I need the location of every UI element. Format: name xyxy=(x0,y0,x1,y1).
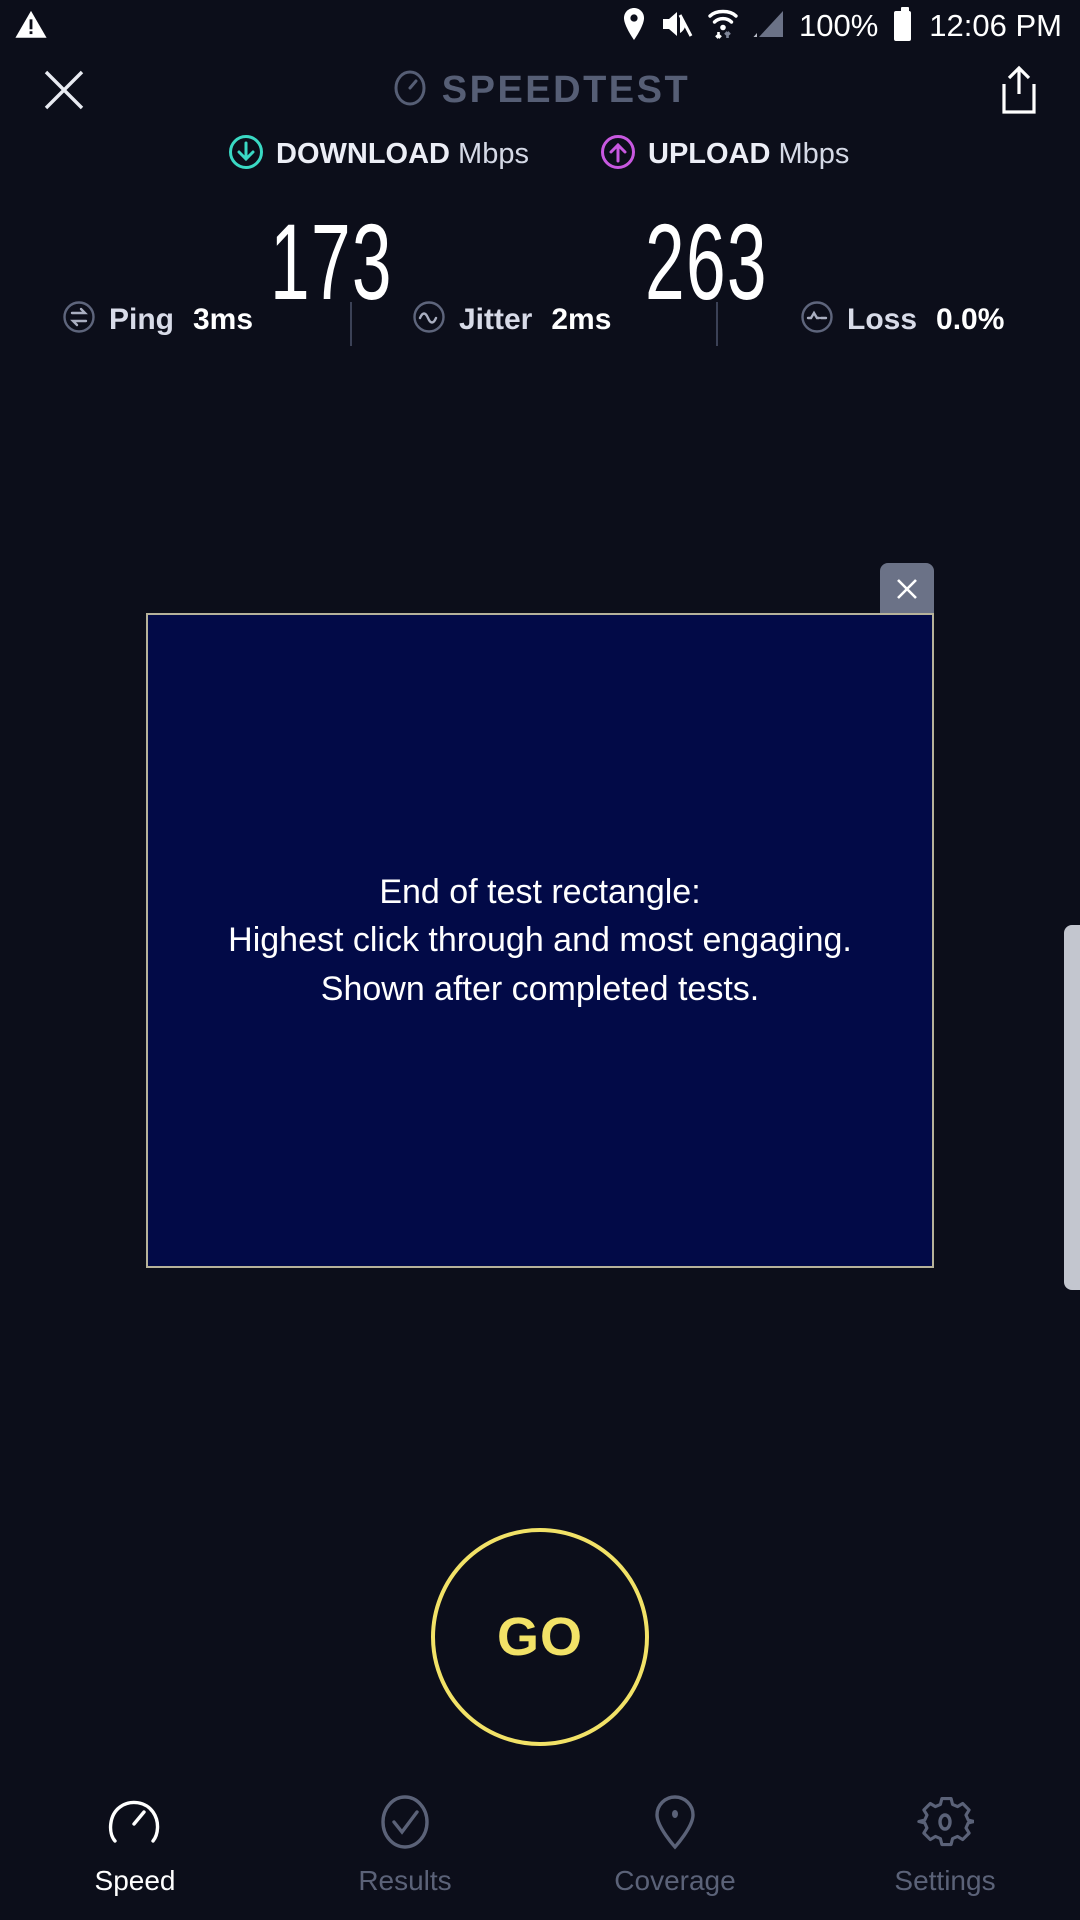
brand-logo: SPEEDTEST xyxy=(0,68,1080,113)
check-circle-icon xyxy=(376,1793,434,1851)
go-button[interactable]: GO xyxy=(431,1528,649,1746)
results-summary: DOWNLOAD Mbps UPLOAD Mbps 173 263 xyxy=(0,130,1080,302)
warning-triangle-icon xyxy=(14,8,48,47)
loss-metric: Loss 0.0% xyxy=(800,300,1004,339)
nav-item-speed[interactable]: Speed xyxy=(0,1770,270,1920)
battery-percent-label: 100% xyxy=(799,8,878,44)
ad-rectangle[interactable]: End of test rectangle: Highest click thr… xyxy=(146,613,934,1268)
upload-header: UPLOAD Mbps xyxy=(600,134,849,175)
ping-jitter-loss-row: Ping 3ms Jitter 2ms Loss 0.0% xyxy=(0,300,1080,348)
ping-metric: Ping 3ms xyxy=(62,300,253,339)
nav-label-speed: Speed xyxy=(95,1865,176,1897)
speed-values-row: 173 263 xyxy=(0,190,1080,302)
share-upload-icon[interactable] xyxy=(996,64,1042,121)
app-header: SPEEDTEST xyxy=(0,52,1080,130)
divider xyxy=(716,302,718,346)
ping-value: 3ms xyxy=(193,303,253,337)
close-x-icon xyxy=(892,574,922,604)
clock-label: 12:06 PM xyxy=(929,8,1062,44)
loss-value: 0.0% xyxy=(936,303,1004,337)
status-bar: 100% 12:06 PM xyxy=(0,0,1080,52)
download-label: DOWNLOAD Mbps xyxy=(276,138,529,171)
nav-item-coverage[interactable]: Coverage xyxy=(540,1770,810,1920)
location-pin-icon xyxy=(646,1793,704,1851)
volume-mute-icon xyxy=(661,9,693,44)
speedometer-icon xyxy=(390,68,430,113)
battery-full-icon xyxy=(894,11,911,41)
advertisement-container[interactable]: End of test rectangle: Highest click thr… xyxy=(146,613,934,1268)
bottom-navigation: Speed Results Coverage xyxy=(0,1770,1080,1920)
location-pin-icon xyxy=(621,8,647,45)
page-title: SPEEDTEST xyxy=(442,69,690,112)
nav-item-settings[interactable]: Settings xyxy=(810,1770,1080,1920)
app-screen: 100% 12:06 PM SPEEDTEST xyxy=(0,0,1080,1920)
gear-icon xyxy=(916,1793,974,1851)
ad-close-button[interactable] xyxy=(880,563,934,615)
download-arrow-circle-icon xyxy=(228,134,264,175)
nav-label-results: Results xyxy=(358,1865,451,1897)
cellular-signal-icon xyxy=(753,9,785,44)
speedometer-icon xyxy=(106,1793,164,1851)
ping-label: Ping xyxy=(109,303,174,337)
jitter-metric: Jitter 2ms xyxy=(412,300,611,339)
jitter-value: 2ms xyxy=(551,303,611,337)
nav-label-settings: Settings xyxy=(894,1865,995,1897)
divider xyxy=(350,302,352,346)
upload-arrow-circle-icon xyxy=(600,134,636,175)
nav-item-results[interactable]: Results xyxy=(270,1770,540,1920)
download-header: DOWNLOAD Mbps xyxy=(228,134,529,175)
go-button-label: GO xyxy=(497,1606,583,1668)
jitter-label: Jitter xyxy=(459,303,532,337)
speed-headers-row: DOWNLOAD Mbps UPLOAD Mbps xyxy=(0,130,1080,190)
ping-exchange-icon xyxy=(62,300,96,339)
ad-text: End of test rectangle: Highest click thr… xyxy=(220,868,860,1013)
status-bar-right-group: 100% 12:06 PM xyxy=(621,0,1062,52)
jitter-wave-icon xyxy=(412,300,446,339)
wifi-transfer-icon xyxy=(707,7,739,46)
loss-label: Loss xyxy=(847,303,917,337)
vertical-scrollbar[interactable] xyxy=(1064,925,1080,1290)
upload-label: UPLOAD Mbps xyxy=(648,138,849,171)
nav-label-coverage: Coverage xyxy=(614,1865,735,1897)
loss-dash-icon xyxy=(800,300,834,339)
